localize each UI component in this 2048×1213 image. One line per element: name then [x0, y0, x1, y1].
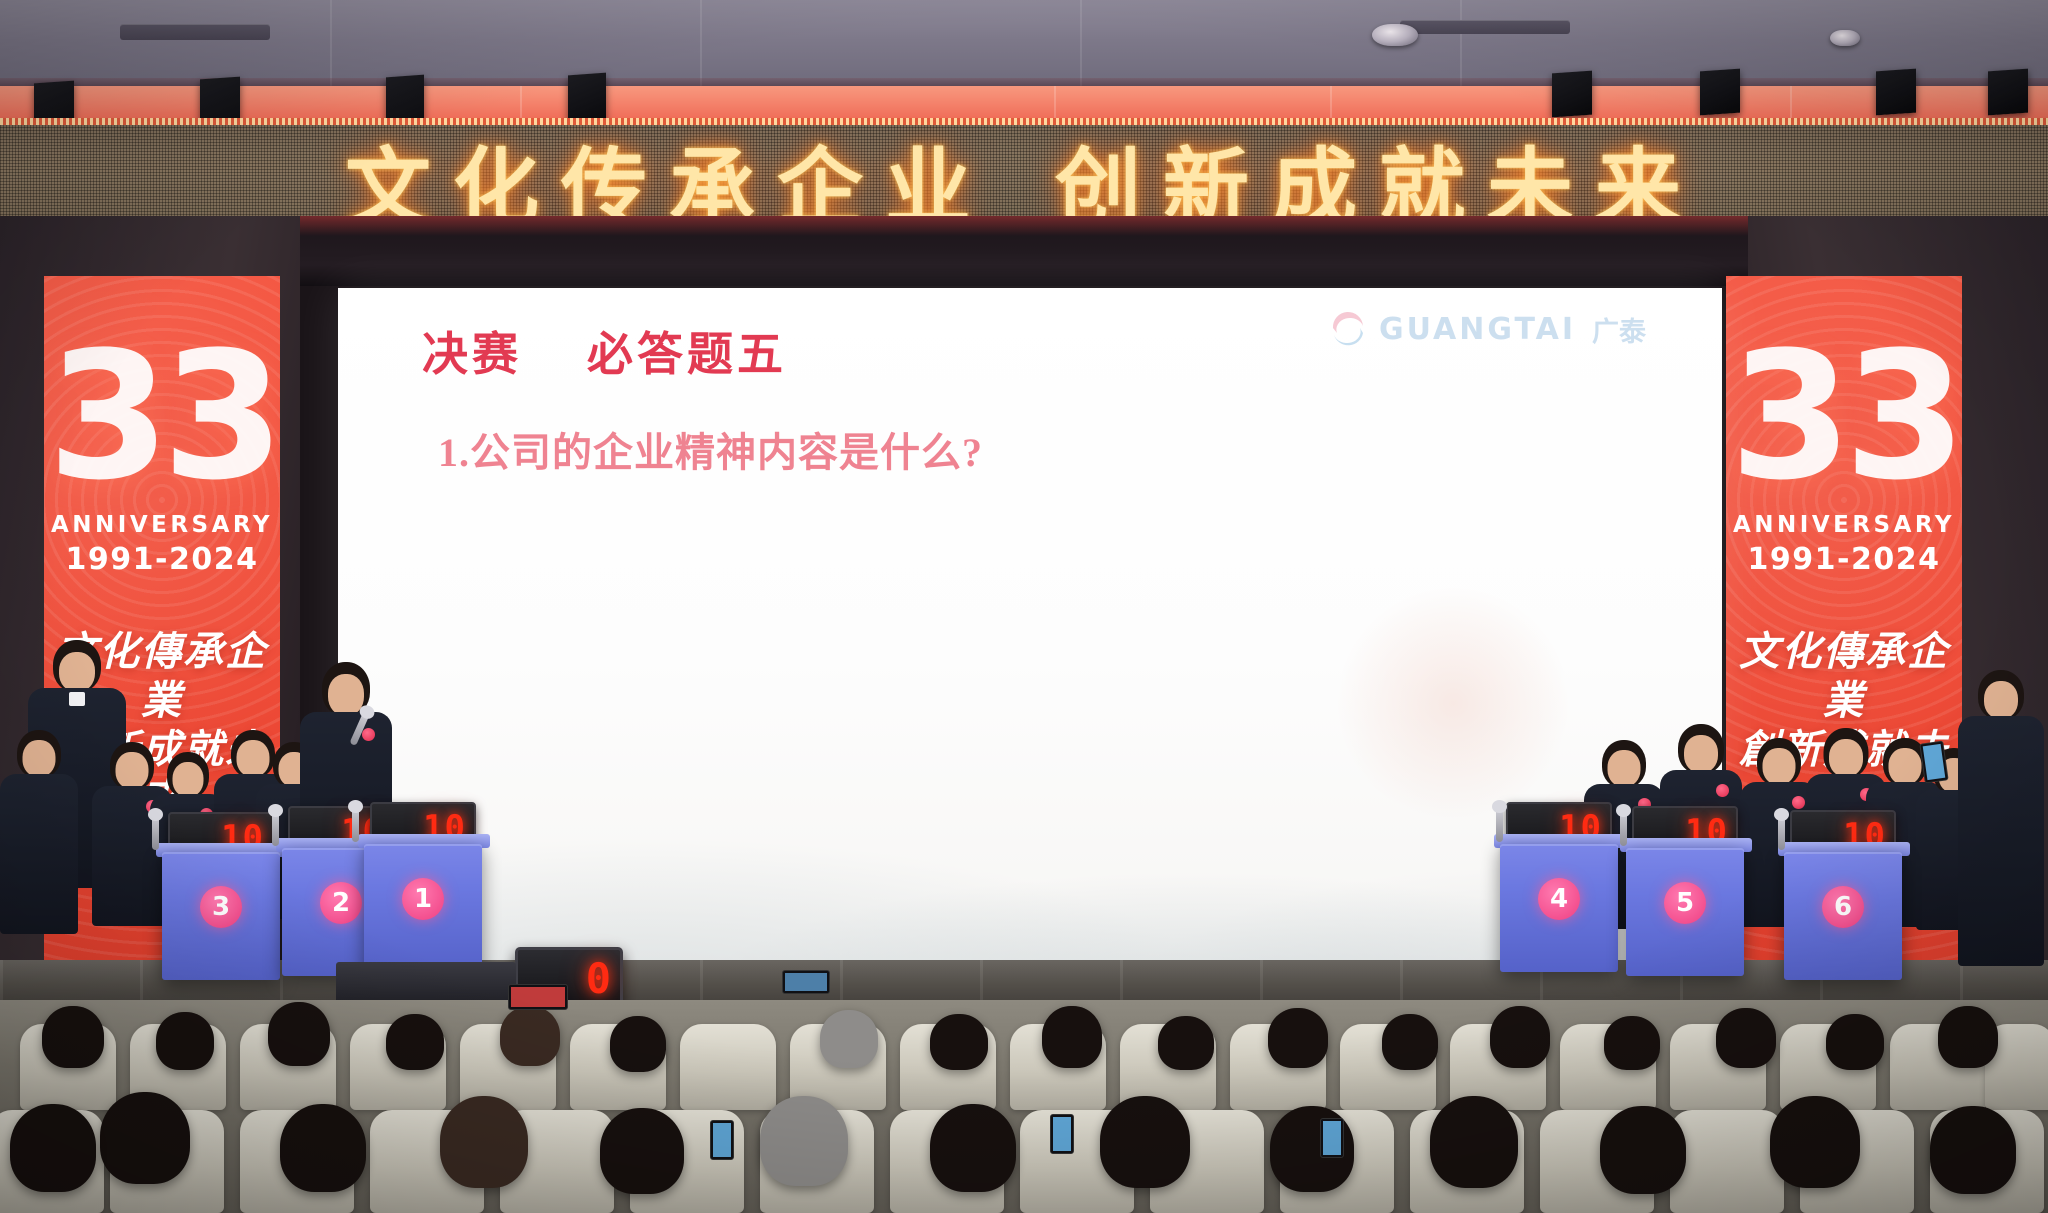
- anniversary-years: 1991-2024: [1726, 542, 1962, 577]
- staff-member: [1958, 670, 2044, 970]
- anniversary-label: ANNIVERSARY: [1726, 512, 1962, 538]
- smartphone-icon: [1050, 1114, 1074, 1154]
- speaker-icon: [1876, 69, 1916, 116]
- podium-microphone-icon: [1620, 812, 1627, 846]
- smartphone-icon: [1320, 1118, 1344, 1158]
- team-podium-number: 4: [1538, 878, 1580, 920]
- slide-title-round: 决赛: [422, 329, 522, 380]
- countdown-timer-value: 0: [586, 954, 611, 1003]
- ceiling: [0, 0, 2048, 90]
- team-podium: 1: [364, 844, 482, 972]
- smartphone-icon: [710, 1120, 734, 1160]
- speaker-icon: [1988, 69, 2028, 116]
- team-podium-number: 6: [1822, 886, 1864, 928]
- team-podium-number: 2: [320, 882, 362, 924]
- slide-title-question-label: 必答题五: [587, 329, 787, 380]
- slide-question-text: 1.公司的企业精神内容是什么?: [438, 420, 983, 478]
- podium-microphone-icon: [1778, 816, 1785, 850]
- slide-sun-decoration: [1338, 588, 1568, 818]
- anniversary-years: 1991-2024: [44, 542, 280, 577]
- speaker-icon: [1700, 69, 1740, 116]
- speaker-icon: [1552, 71, 1592, 118]
- podium-microphone-icon: [152, 816, 159, 850]
- company-logo-text-cn: 广泰: [1592, 310, 1646, 349]
- team-podium: 6: [1784, 852, 1902, 980]
- audience-area: [0, 1000, 2048, 1213]
- podium-microphone-icon: [352, 808, 359, 842]
- company-logo: GUANGTAI 广泰: [1329, 310, 1646, 349]
- anniversary-label: ANNIVERSARY: [44, 512, 280, 538]
- podium-microphone-icon: [1496, 808, 1503, 842]
- contestant: [0, 730, 78, 930]
- team-podium: 5: [1626, 848, 1744, 976]
- team-podium: 3: [162, 852, 280, 980]
- ceiling-light-icon: [1372, 24, 1418, 46]
- smartphone-icon: [508, 984, 568, 1010]
- team-podium: 4: [1500, 844, 1618, 972]
- panel-calligraphy-line1: 文化傳承企業: [1726, 628, 1962, 726]
- team-podium-number: 3: [200, 886, 242, 928]
- competition-hall-scene: 文化传承企业 创新成就未来 33 ANNIVERSARY 1991-2024 文…: [0, 0, 2048, 1213]
- anniversary-number: 33: [44, 336, 280, 498]
- podium-microphone-icon: [272, 812, 279, 846]
- smartphone-icon: [782, 970, 830, 994]
- company-logo-text: GUANGTAI: [1379, 312, 1576, 347]
- slide-title: 决赛 必答题五: [422, 318, 787, 384]
- anniversary-number: 33: [1726, 336, 1962, 498]
- guangtai-swoosh-icon: [1329, 311, 1367, 349]
- ceiling-light-icon: [1830, 30, 1860, 46]
- team-podium-number: 5: [1664, 882, 1706, 924]
- team-podium-number: 1: [402, 878, 444, 920]
